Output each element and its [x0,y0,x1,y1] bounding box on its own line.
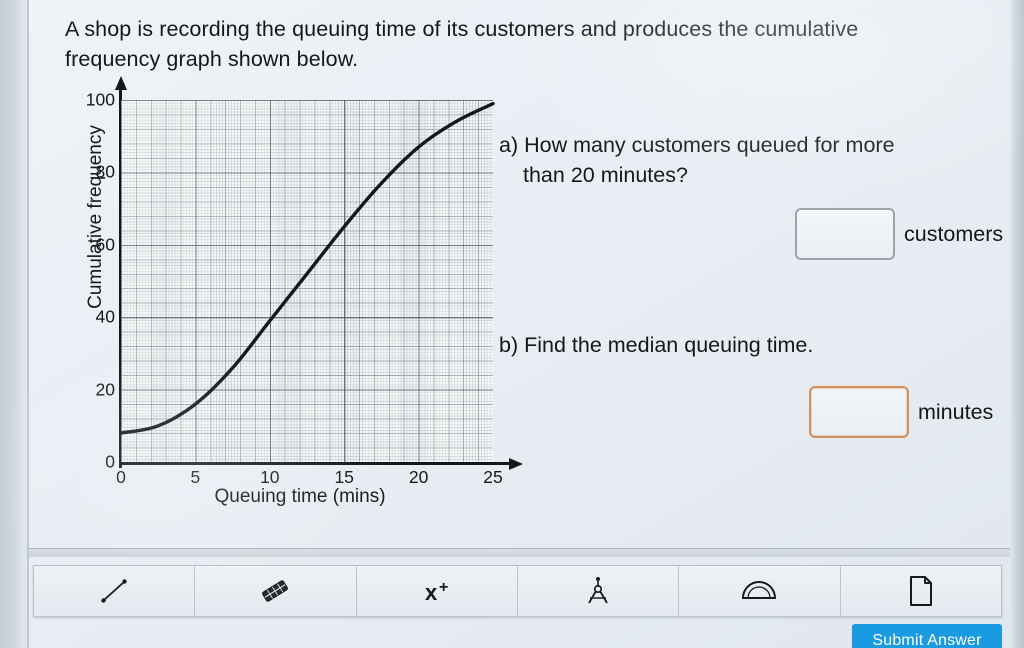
math-symbol-tool-button[interactable]: x + [357,566,518,616]
y-tick-0: 0 [105,452,115,473]
question-a-line1: a) How many customers queued for more [499,133,895,157]
protractor-icon [737,577,781,605]
answer-row-a: customers [499,208,1019,260]
x-tick-15: 15 [334,467,353,488]
y-tick-20: 20 [96,379,115,400]
eraser-tool-button[interactable] [195,566,356,616]
x-tick-0: 0 [116,467,126,488]
photo-left-edge [0,0,28,648]
question-b-text: b) Find the median queuing time. [499,330,1019,360]
answer-input-a[interactable] [795,208,895,260]
x-tick-10: 10 [260,467,279,488]
svg-text:+: + [439,579,448,596]
question-a-text: a) How many customers queued for more th… [499,130,1019,190]
x-tick-5: 5 [191,467,201,488]
drawing-toolbar: x + [33,565,1002,617]
plot-area: 100 80 60 40 20 0 0 5 10 15 20 25 [121,100,493,462]
x-axis-title: Queuing time (mins) [65,486,535,508]
toolbar-divider [29,548,1010,557]
compass-tool-button[interactable] [518,566,679,616]
eraser-icon [255,576,295,606]
answer-row-b: minutes [499,386,1019,438]
x-tick-20: 20 [409,467,428,488]
y-tick-80: 80 [96,162,115,183]
submit-answer-wrap: Submit Answer [852,624,1002,648]
y-tick-60: 60 [96,234,115,255]
new-page-tool-button[interactable] [841,566,1001,616]
answer-input-b[interactable] [809,386,909,438]
y-tick-40: 40 [96,307,115,328]
page-icon [906,574,936,608]
protractor-tool-button[interactable] [679,566,840,616]
question-stem: A shop is recording the queuing time of … [65,14,925,74]
submit-answer-button[interactable]: Submit Answer [852,624,1002,648]
pen-icon [97,576,131,606]
x-tick-25: 25 [483,467,502,488]
svg-text:x: x [425,580,438,605]
answer-unit-b: minutes [918,400,993,425]
compass-icon [581,575,615,607]
cumulative-frequency-graph: Cumulative frequency 100 80 60 40 20 0 0… [65,88,535,528]
x-plus-icon: x + [417,576,457,606]
y-axis-title: Cumulative frequency [85,102,107,332]
answer-unit-a: customers [904,222,1003,247]
cumulative-frequency-curve [121,100,493,462]
question-a-line2: than 20 minutes? [499,160,1019,190]
question-column: a) How many customers queued for more th… [499,130,1019,438]
pen-tool-button[interactable] [34,566,195,616]
x-axis-arrow [509,458,523,470]
y-tick-100: 100 [86,90,115,111]
x-axis-line [119,462,511,465]
